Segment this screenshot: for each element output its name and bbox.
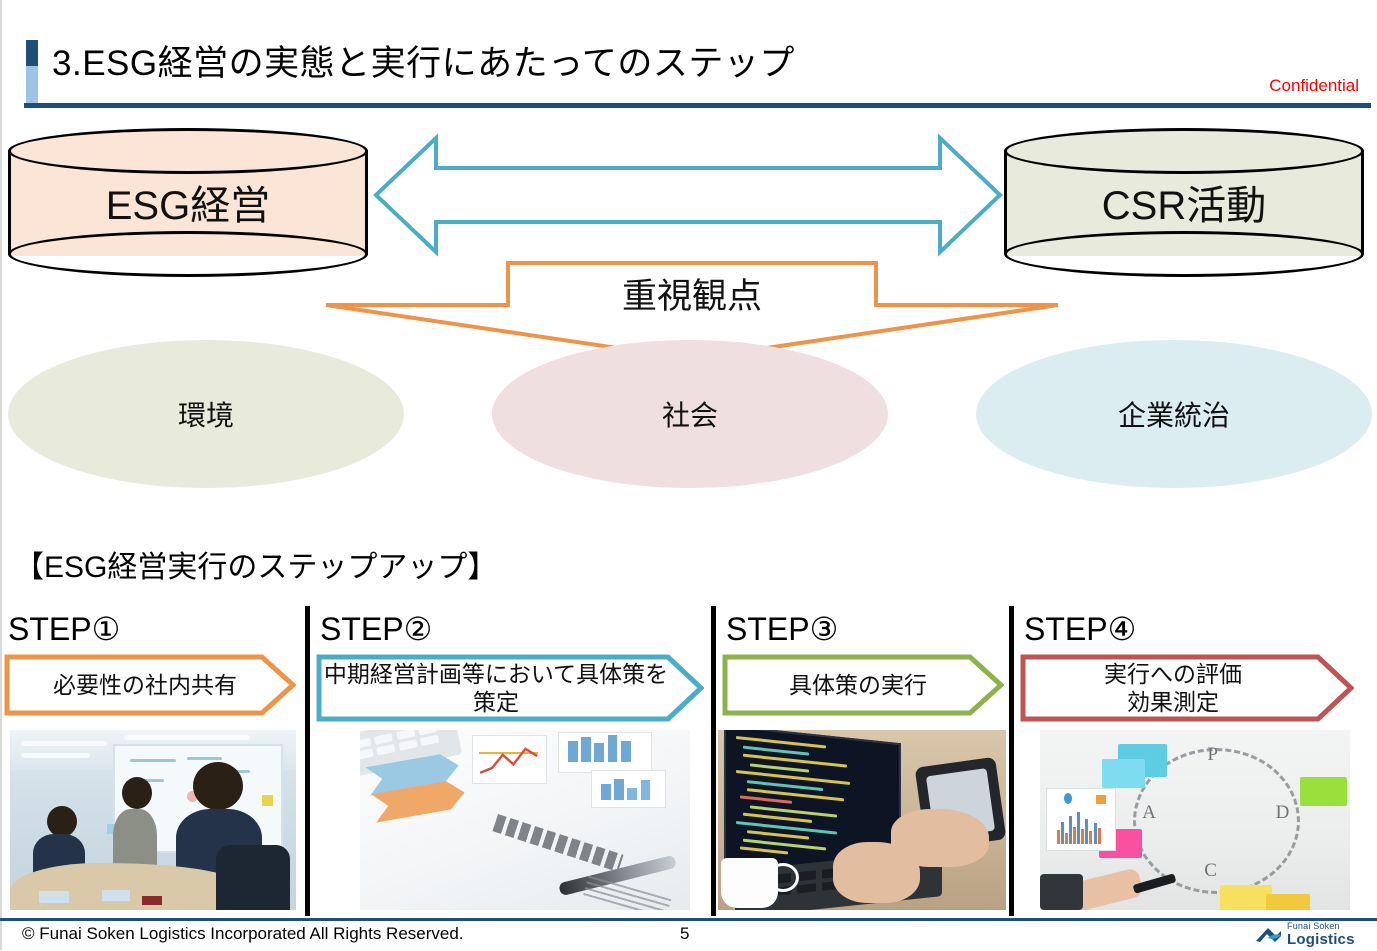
ellipse-environment-label: 環境 [178,394,234,434]
slide-footer: © Funai Soken Logistics Incorporated All… [0,918,1377,950]
csr-cylinder: CSR活動 [1004,128,1364,278]
page-number: 5 [680,924,689,944]
ellipse-environment: 環境 [8,340,404,488]
title-accent-bar [26,40,38,106]
funai-soken-logistics-logo: Funai Soken Logistics [1255,920,1367,950]
business-plan-document-photo [360,730,690,910]
ellipse-governance-label: 企業統治 [1118,394,1230,434]
ellipse-society-label: 社会 [662,394,718,434]
emphasis-arrow-label: 重視観点 [322,259,1062,327]
logo-line-1: Funai Soken [1287,921,1340,931]
esg-cylinder: ESG経営 [8,128,368,278]
wave-logo-icon [1255,924,1283,946]
meeting-whiteboard-photo [10,730,296,910]
bidirectional-arrow-icon [372,132,1004,258]
step-1-photo [10,730,296,910]
footer-divider [0,918,1377,921]
esg-cylinder-label: ESG経営 [8,128,368,276]
step-divider-3 [1009,606,1014,916]
esg-csr-diagram: ESG経営 CSR活動 重視観点 環境 社会 [0,104,1377,514]
step-divider-2 [711,606,716,916]
step-1-title: STEP① [8,612,120,646]
csr-cylinder-label: CSR活動 [1004,128,1364,276]
logo-line-2: Logistics [1287,931,1355,948]
steps-row: STEP① 必要性の社内共有 [0,606,1377,916]
slide-header: 3.ESG経営の実態と実行にあたってのステップ Confidential [0,24,1377,104]
step-3-title: STEP③ [726,612,838,646]
step-4-arrow-icon [1020,654,1354,727]
ellipse-society: 社会 [492,340,888,488]
step-4-photo: P D C A [1040,730,1350,910]
slide: 3.ESG経営の実態と実行にあたってのステップ Confidential ESG… [0,0,1377,950]
ellipse-governance: 企業統治 [976,340,1372,488]
confidential-label: Confidential [1269,76,1359,96]
title-accent-bar-bottom [26,66,38,106]
laptop-coding-photo [718,730,1006,910]
pdca-whiteboard-photo: P D C A [1040,730,1350,910]
title-accent-bar-top [26,40,38,66]
steps-section-heading: 【ESG経営実行のステップアップ】 [14,542,497,586]
page-title: 3.ESG経営の実態と実行にあたってのステップ [52,34,795,94]
copyright-text: © Funai Soken Logistics Incorporated All… [22,924,464,944]
step-2-title: STEP② [320,612,432,646]
step-divider-1 [305,606,310,916]
step-3-photo [718,730,1006,910]
step-4-title: STEP④ [1024,612,1136,646]
step-2-arrow-icon [316,654,704,727]
step-2-photo [360,730,690,910]
step-3-arrow-icon [722,654,1004,721]
step-1-arrow-icon [4,654,296,721]
